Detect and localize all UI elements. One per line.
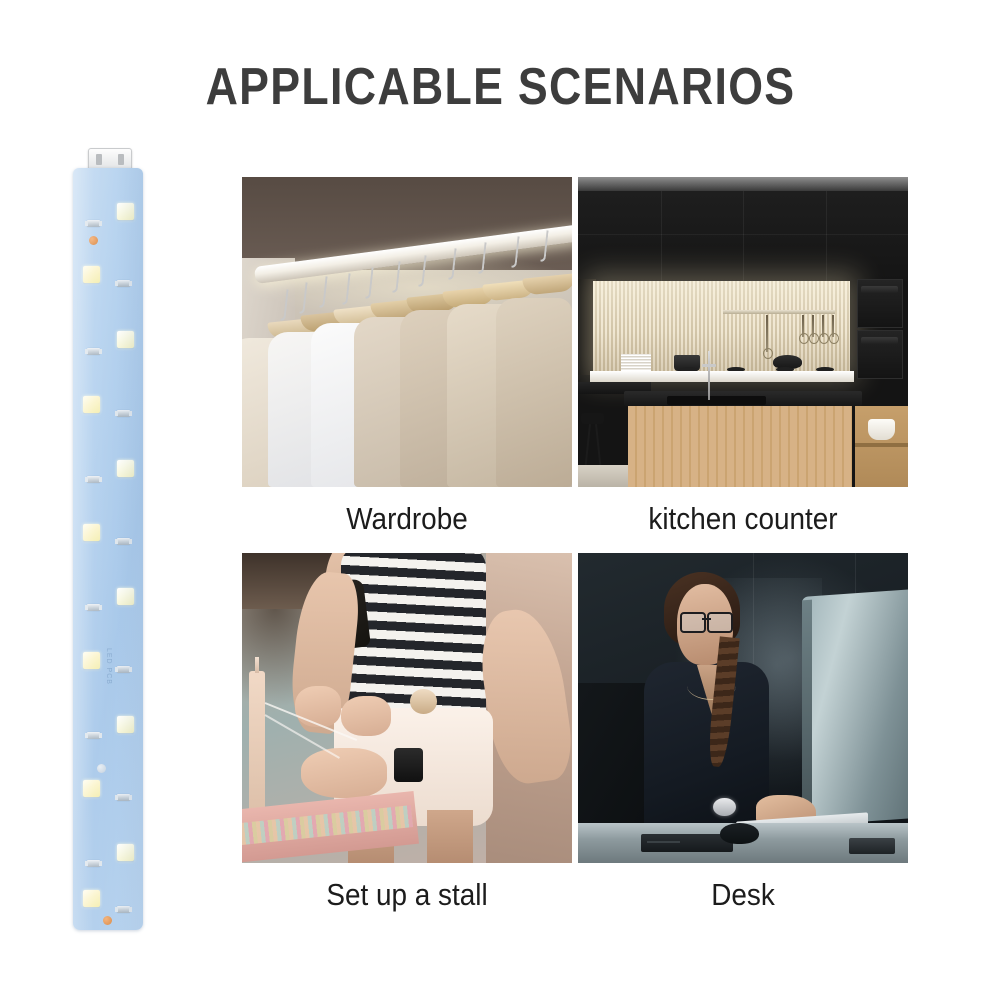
graphics-tablet <box>641 834 733 853</box>
scenario-card-kitchen-counter[interactable]: kitchen counter <box>578 177 908 537</box>
wristwatch-dark <box>394 748 424 782</box>
solder-pad <box>97 764 106 773</box>
wardrobe-photo <box>242 177 572 487</box>
led-chip <box>83 396 100 413</box>
resistor <box>117 538 130 545</box>
leg <box>427 810 473 863</box>
ceiling-valance <box>578 177 908 191</box>
led-chip <box>117 716 134 733</box>
utensil <box>812 315 814 337</box>
resistor <box>87 604 100 611</box>
pcb-silkscreen-text: LED PCB <box>105 648 112 685</box>
garment <box>496 298 572 487</box>
resistor <box>117 666 130 673</box>
utensil <box>766 315 768 352</box>
resistor <box>117 906 130 913</box>
stacked-dishes <box>621 354 651 371</box>
utensil <box>832 315 834 337</box>
sink-basin <box>667 396 766 406</box>
wall-oven-lower <box>857 330 904 379</box>
led-chip <box>117 844 134 861</box>
wristwatch <box>410 689 436 714</box>
resistor <box>87 860 100 867</box>
utensil-rail <box>723 310 835 314</box>
led-chip <box>117 588 134 605</box>
scenario-caption: Wardrobe <box>259 501 556 537</box>
wood-island <box>628 406 852 487</box>
hand <box>301 748 387 798</box>
floor <box>578 465 628 487</box>
faucet <box>708 351 710 401</box>
hand <box>295 686 341 726</box>
usb-connector-notch-right <box>118 154 124 165</box>
scenario-caption: kitchen counter <box>595 501 892 537</box>
monitor-edge <box>802 599 812 817</box>
usb-connector-notch-left <box>96 154 102 165</box>
led-chip <box>83 266 100 283</box>
utensil <box>802 315 804 337</box>
market-stall-photo <box>242 553 572 863</box>
led-chip <box>83 890 100 907</box>
led-chip <box>117 331 134 348</box>
computer-monitor <box>802 589 908 826</box>
utensil <box>822 315 824 337</box>
scenario-card-wardrobe[interactable]: Wardrobe <box>242 177 572 537</box>
computer-mouse <box>720 823 760 845</box>
led-chip <box>117 460 134 477</box>
scenario-caption: Set up a stall <box>259 877 556 913</box>
scenario-card-set-up-a-stall[interactable]: Set up a stall <box>242 553 572 913</box>
ceramic-bowl <box>868 419 894 441</box>
led-chip <box>117 203 134 220</box>
kitchen-counter-photo <box>578 177 908 487</box>
smartphone <box>849 838 895 854</box>
led-strip-pcb: LED PCB <box>73 168 143 930</box>
eyeglasses-icon <box>680 612 733 629</box>
resistor <box>117 410 130 417</box>
led-chip <box>83 524 100 541</box>
resistor <box>117 794 130 801</box>
resistor <box>87 220 100 227</box>
resistor <box>87 732 100 739</box>
hand <box>341 696 391 736</box>
resistor <box>87 476 100 483</box>
desk-night-work-photo <box>578 553 908 863</box>
solder-pad <box>89 236 98 245</box>
resistor <box>87 348 100 355</box>
upper-cabinets <box>578 191 908 281</box>
counter-top <box>590 371 854 382</box>
resistor <box>117 280 130 287</box>
scenario-card-desk[interactable]: Desk <box>578 553 908 913</box>
scenario-grid: Wardrobe <box>242 177 908 940</box>
page-title: APPLICABLE SCENARIOS <box>70 57 931 117</box>
wall-oven-upper <box>857 279 904 328</box>
stylus-pen <box>647 841 680 843</box>
led-chip <box>83 652 100 669</box>
led-chip <box>83 780 100 797</box>
solder-pad <box>103 916 112 925</box>
scenario-caption: Desk <box>595 877 892 913</box>
